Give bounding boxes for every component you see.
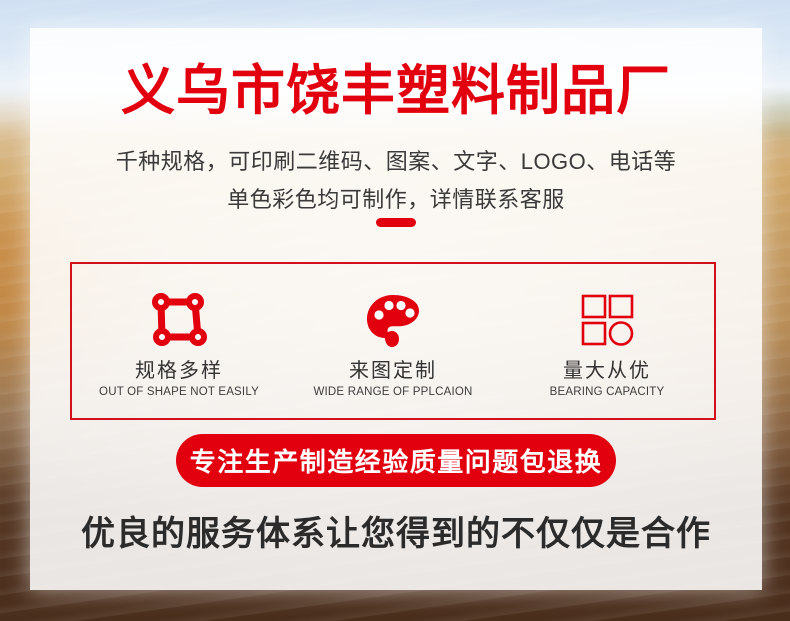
grid-squares-circle-icon xyxy=(500,289,714,351)
company-title: 义乌市饶丰塑料制品厂 xyxy=(30,64,762,118)
subtitle-line-1: 千种规格，可印刷二维码、图案、文字、LOGO、电话等 xyxy=(30,143,762,181)
feature-item-custom-design: 来图定制 WIDE RANGE OF PPLCAION xyxy=(286,285,500,398)
feature-title: 规格多样 xyxy=(72,359,286,383)
feature-list: 规格多样 OUT OF SHAPE NOT EASILY 来图定制 WIDE R… xyxy=(70,262,716,420)
feature-item-specifications: 规格多样 OUT OF SHAPE NOT EASILY xyxy=(72,285,286,398)
feature-subtitle: WIDE RANGE OF PPLCAION xyxy=(286,386,500,398)
service-tagline: 优良的服务体系让您得到的不仅仅是合作 xyxy=(30,506,762,555)
subtitle-line-2: 单色彩色均可制作，详情联系客服 xyxy=(30,181,762,219)
polygon-nodes-icon xyxy=(72,289,286,351)
feature-item-bulk-discount: 量大从优 BEARING CAPACITY xyxy=(500,285,714,398)
content-panel: 义乌市饶丰塑料制品厂 千种规格，可印刷二维码、图案、文字、LOGO、电话等 单色… xyxy=(30,28,762,590)
feature-subtitle: BEARING CAPACITY xyxy=(500,386,714,398)
subtitle-block: 千种规格，可印刷二维码、图案、文字、LOGO、电话等 单色彩色均可制作，详情联系… xyxy=(30,143,762,219)
feature-title: 来图定制 xyxy=(286,359,500,383)
paint-palette-icon xyxy=(286,289,500,351)
feature-title: 量大从优 xyxy=(500,359,714,383)
accent-divider-bar xyxy=(376,218,416,227)
guarantee-badge: 专注生产制造经验质量问题包退换 xyxy=(176,434,616,487)
feature-subtitle: OUT OF SHAPE NOT EASILY xyxy=(72,386,286,398)
promotional-banner: 义乌市饶丰塑料制品厂 千种规格，可印刷二维码、图案、文字、LOGO、电话等 单色… xyxy=(0,0,790,621)
